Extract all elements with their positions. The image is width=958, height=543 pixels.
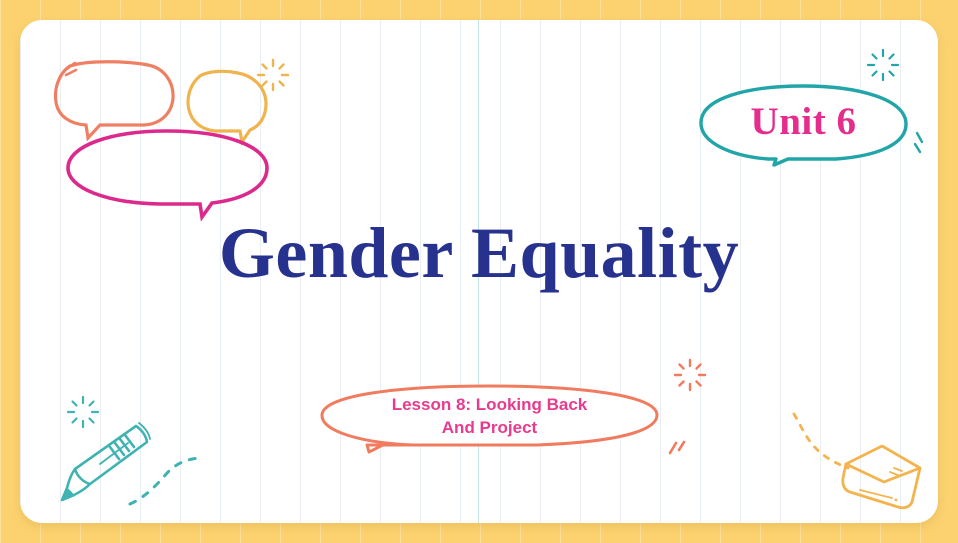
slide-card: Unit 6 Gender Equality Lesson 8: Looking… — [20, 20, 938, 523]
sparkle-coral-middle-right — [673, 358, 707, 392]
tick-marks-teal-right — [913, 130, 935, 156]
speech-bubble-magenta — [60, 126, 275, 222]
envelope-dash-trail — [790, 410, 858, 472]
pencil-dash-trail — [128, 456, 208, 512]
page-title: Gender Equality — [20, 216, 938, 292]
lesson-line-1: Lesson 8: Looking Back — [392, 395, 588, 414]
lesson-line-2: And Project — [442, 418, 537, 437]
slide-frame: Unit 6 Gender Equality Lesson 8: Looking… — [0, 0, 958, 543]
unit-badge: Unit 6 — [696, 82, 911, 167]
lesson-text-block: Lesson 8: Looking Back And Project — [392, 394, 588, 440]
sparkle-teal-top-right — [866, 48, 900, 82]
tick-marks-coral-middle-right — [666, 440, 690, 468]
sparkle-orange-top-left — [256, 58, 290, 92]
sparkle-salmon-top-left — [62, 58, 84, 80]
unit-badge-label: Unit 6 — [751, 99, 857, 144]
lesson-bubble: Lesson 8: Looking Back And Project — [317, 383, 662, 455]
